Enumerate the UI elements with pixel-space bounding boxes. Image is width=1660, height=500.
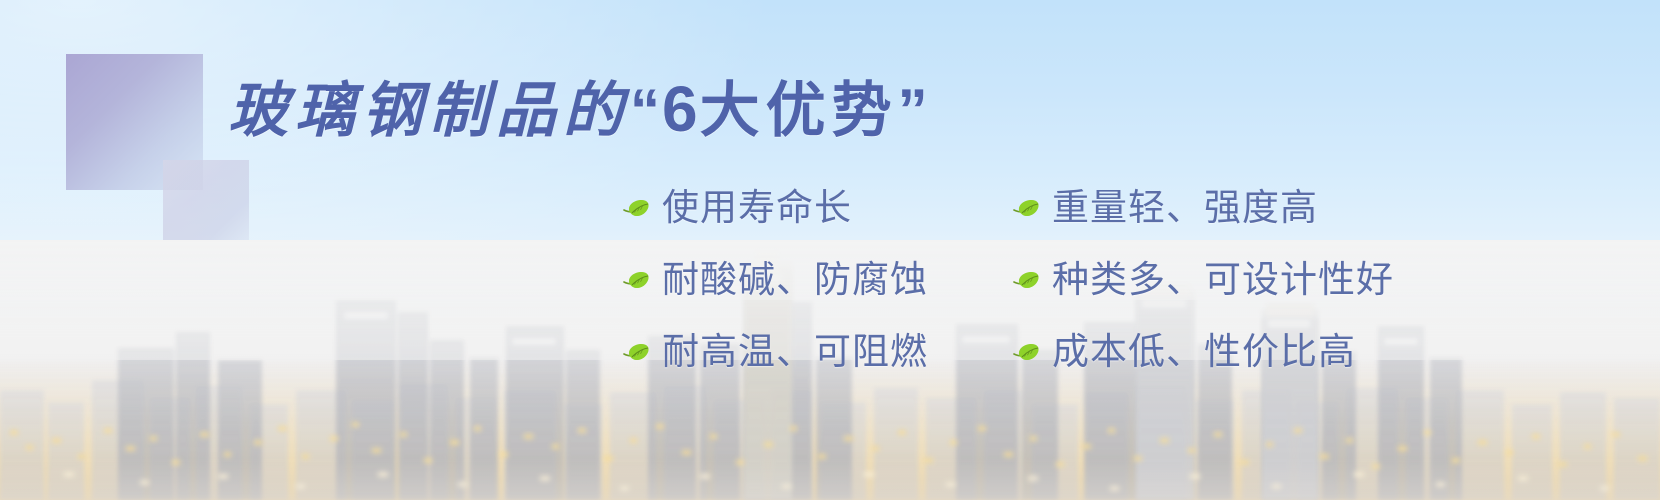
leaf-icon [1010, 197, 1040, 219]
list-item: 种类多、可设计性好 [1010, 258, 1450, 302]
page-title: 玻璃钢制品的“6大优势” [228, 72, 930, 148]
list-item-label: 种类多、可设计性好 [1052, 258, 1394, 302]
promo-banner: 玻璃钢制品的“6大优势” 使用寿命长 [0, 0, 1660, 500]
decorative-square-small [163, 160, 249, 242]
leaf-icon [620, 341, 650, 363]
list-item-label: 重量轻、强度高 [1052, 186, 1318, 230]
list-item: 耐高温、可阻燃 [620, 330, 1010, 374]
title-number: 6 [662, 73, 700, 145]
list-item: 成本低、性价比高 [1010, 330, 1450, 374]
advantages-column-left: 使用寿命长 耐酸碱、防腐蚀 [620, 186, 1010, 374]
title-open-quote: “ [630, 77, 662, 144]
list-item: 耐酸碱、防腐蚀 [620, 258, 1010, 302]
title-prefix: 玻璃钢制品的 [228, 77, 630, 144]
list-item-label: 使用寿命长 [662, 186, 852, 230]
advantages-column-right: 重量轻、强度高 种类多、可设计性好 [1010, 186, 1450, 374]
advantages-list: 使用寿命长 耐酸碱、防腐蚀 [620, 186, 1450, 374]
leaf-icon [1010, 269, 1040, 291]
list-item-label: 成本低、性价比高 [1052, 330, 1356, 374]
leaf-icon [1010, 341, 1040, 363]
decorative-square-large [66, 54, 203, 190]
list-item: 重量轻、强度高 [1010, 186, 1450, 230]
list-item-label: 耐酸碱、防腐蚀 [662, 258, 928, 302]
leaf-icon [620, 269, 650, 291]
leaf-icon [620, 197, 650, 219]
list-item-label: 耐高温、可阻燃 [662, 330, 928, 374]
title-emphasis: 大优势 [700, 77, 898, 144]
list-item: 使用寿命长 [620, 186, 1010, 230]
title-close-quote: ” [898, 77, 930, 144]
